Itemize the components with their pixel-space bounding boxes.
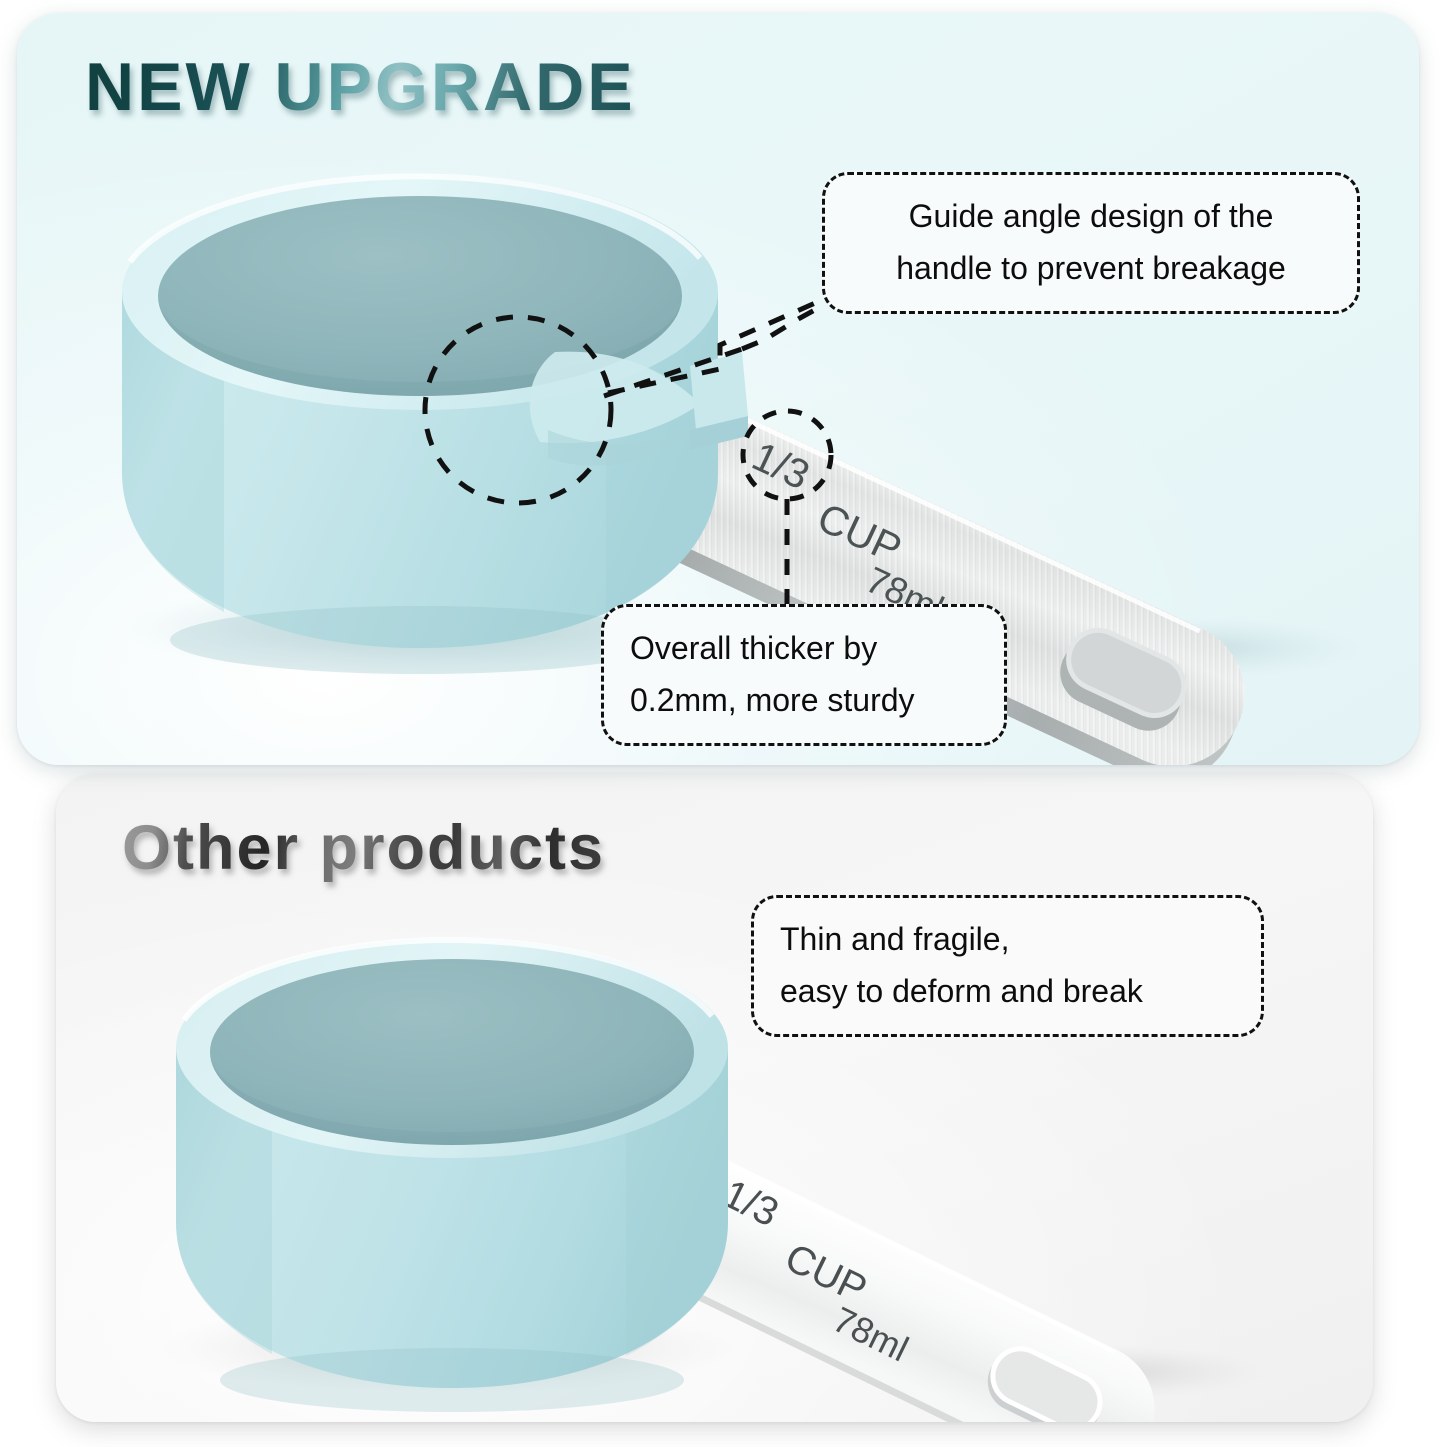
infographic-canvas: 1/3 CUP 78ml xyxy=(0,0,1445,1447)
title-other-products: Other products xyxy=(122,812,605,884)
title-new-upgrade: NEW UPGRADE xyxy=(85,48,636,126)
callout-overall-thicker: Overall thicker by 0.2mm, more sturdy xyxy=(601,604,1007,746)
callout-guide-angle: Guide angle design of the handle to prev… xyxy=(822,172,1360,314)
callout-thin-and-fragile: Thin and fragile, easy to deform and bre… xyxy=(751,895,1264,1037)
